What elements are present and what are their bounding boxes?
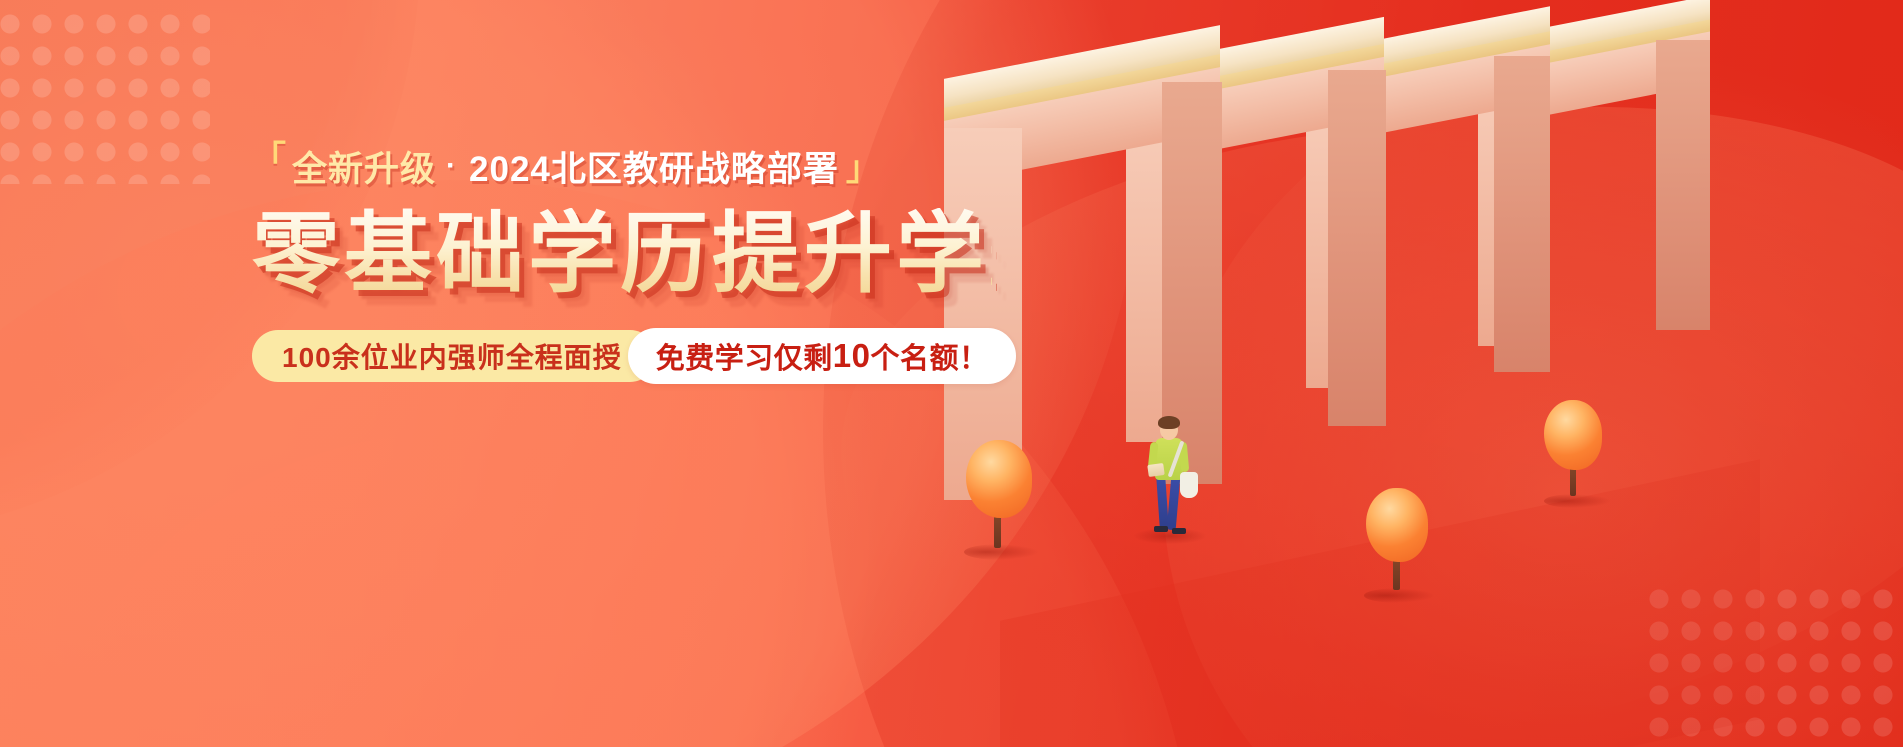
tree-mid: [1360, 488, 1444, 614]
badge-teachers: 100余位业内强师全程面授: [252, 330, 656, 382]
subtitle-separator-icon: ·: [446, 149, 457, 183]
promo-banner: 「 全新升级 · 2024北区教研战略部署 」 零基础学历提升学霸班 100余位…: [0, 0, 1903, 747]
subtitle-highlight: 全新升级: [292, 141, 436, 192]
badge-seats-suffix: 个名额！: [870, 335, 988, 377]
badge-seats-count: 10: [833, 337, 871, 375]
banner-title: 零基础学历提升学霸班: [252, 208, 992, 300]
bracket-close-icon: 」: [846, 152, 881, 186]
banner-subtitle: 「 全新升级 · 2024北区教研战略部署 」: [252, 140, 992, 192]
banner-badges: 100余位业内强师全程面授 免费学习仅剩10个名额！: [252, 328, 992, 384]
dot-grid-top-left: [0, 8, 210, 184]
banner-copy: 「 全新升级 · 2024北区教研战略部署 」 零基础学历提升学霸班 100余位…: [252, 140, 992, 384]
student-with-bag: [1140, 410, 1212, 540]
badge-seats-prefix: 免费学习仅剩: [656, 335, 833, 377]
campus-illustration: [940, 0, 1903, 747]
tree-left: [958, 440, 1048, 570]
bracket-open-icon: 「: [252, 142, 287, 176]
badge-seats-left: 免费学习仅剩10个名额！: [628, 328, 1017, 384]
tree-right: [1540, 400, 1618, 518]
subtitle-main: 2024北区教研战略部署: [469, 141, 839, 192]
